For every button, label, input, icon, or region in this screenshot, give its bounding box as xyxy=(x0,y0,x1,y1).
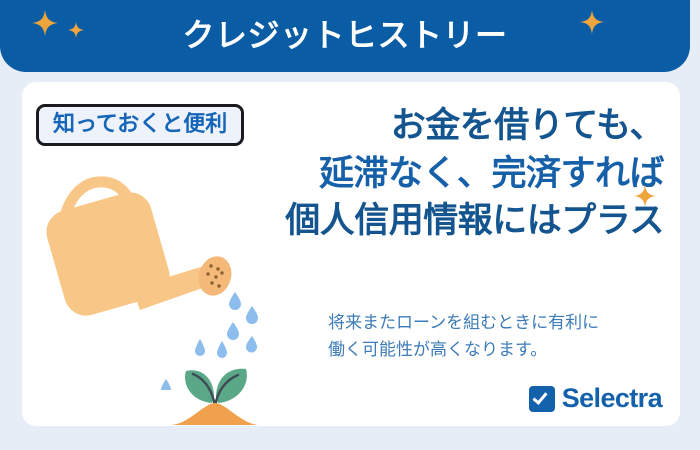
headline-line-2: 延滞なく、完済すれば xyxy=(194,150,664,198)
sparkle-icon xyxy=(580,10,604,34)
headline-line-3-text: 個人信用情報にはプラス xyxy=(285,201,664,240)
water-drop-icon xyxy=(195,339,227,358)
page-title: クレジットヒストリー xyxy=(182,19,507,51)
plant-sprout-icon xyxy=(170,369,260,425)
headline-line-3: 個人信用情報にはプラス xyxy=(194,197,664,245)
headline: お金を借りても、 延滞なく、完済すれば 個人信用情報にはプラス xyxy=(194,102,664,245)
headline-line-2-text: 延滞なく、完済すれば xyxy=(319,154,664,193)
checkbox-check-icon xyxy=(529,386,555,412)
headline-line-1: お金を借りても、 xyxy=(194,102,664,150)
sparkle-icon xyxy=(32,10,58,36)
selectra-logo-text: Selectra xyxy=(562,385,662,412)
sparkle-icon xyxy=(68,22,84,38)
sparkle-icon xyxy=(634,185,656,207)
content-card: 知っておくと便利 xyxy=(22,82,680,426)
body-line-1: 将来またローンを組むときに有利に xyxy=(328,310,658,337)
selectra-logo: Selectra xyxy=(529,385,662,412)
infographic-root: クレジットヒストリー 知っておくと便利 xyxy=(0,0,700,450)
header-banner: クレジットヒストリー xyxy=(0,0,690,72)
body-text: 将来またローンを組むときに有利に 働く可能性が高くなります。 xyxy=(328,310,658,364)
body-line-2: 働く可能性が高くなります。 xyxy=(328,337,658,364)
